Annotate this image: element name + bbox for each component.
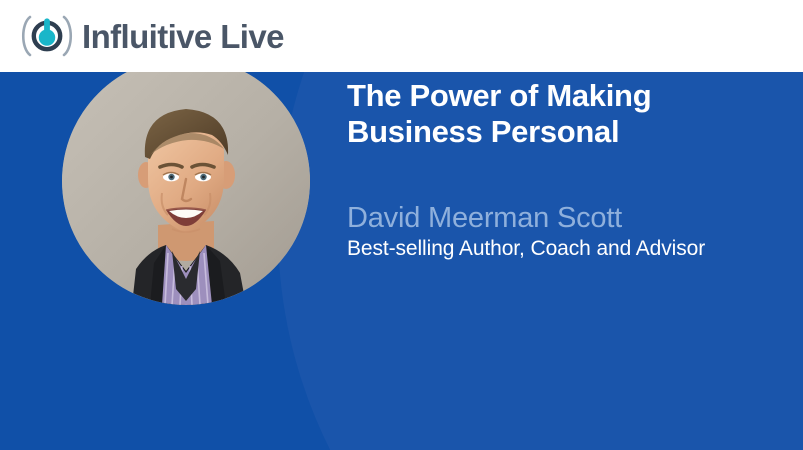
header-bar: Influitive Live (0, 0, 803, 72)
influitive-power-mark-icon (16, 11, 78, 61)
slide-copy: The Power of Making Business Personal Da… (347, 78, 787, 262)
speaker-name: David Meerman Scott (347, 203, 787, 234)
speaker-avatar (62, 57, 310, 305)
webinar-title-slide: Influitive Live (0, 0, 803, 450)
speaker-photo-illustration (62, 57, 310, 305)
brand-logo[interactable]: Influitive Live (16, 10, 284, 62)
speaker-block: David Meerman Scott Best-selling Author,… (347, 203, 787, 263)
talk-title-line-2: Business Personal (347, 114, 787, 150)
talk-title-line-1: The Power of Making (347, 78, 787, 114)
talk-title: The Power of Making Business Personal (347, 78, 787, 151)
brand-wordmark: Influitive Live (82, 20, 284, 53)
speaker-role: Best-selling Author, Coach and Advisor (347, 236, 787, 262)
